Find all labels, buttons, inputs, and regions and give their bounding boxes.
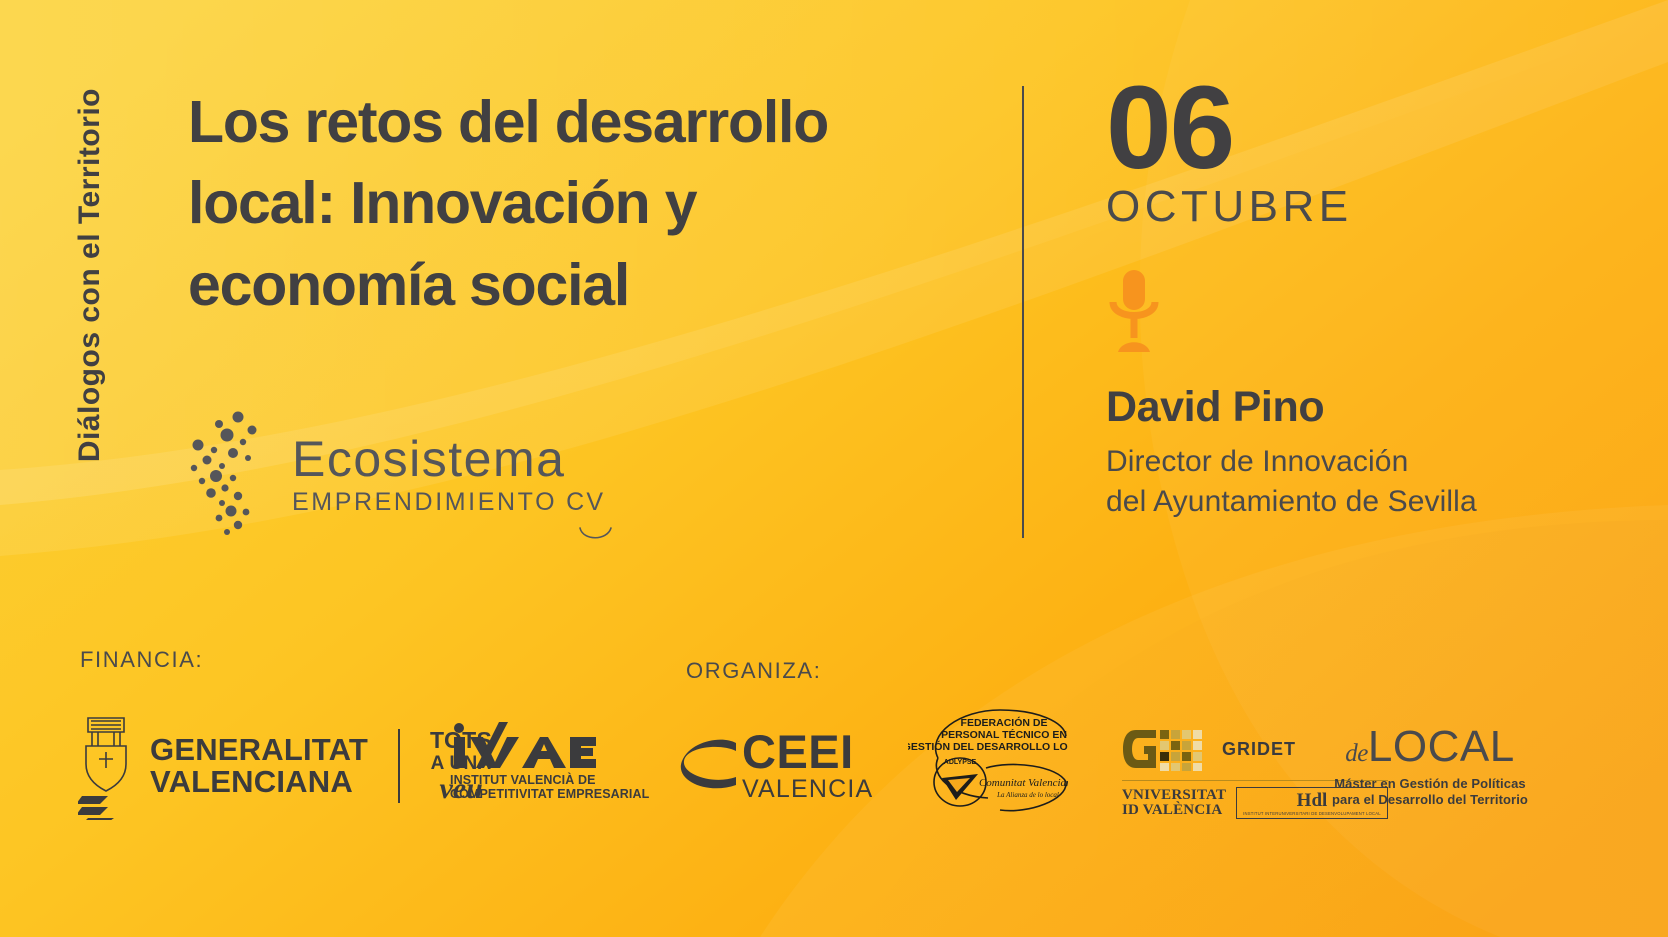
series-kicker-text: Diálogos con el Territorio bbox=[73, 88, 107, 462]
generalitat-valenciana-logo: GENERALITAT VALENCIANA TOTS A UNA veu bbox=[78, 712, 492, 820]
title-line-1: Los retos del desarrollo bbox=[188, 82, 988, 163]
federacion-adlypse-logo: FEDERACIÓN DE PERSONAL TÉCNICO EN GESTIÓ… bbox=[908, 702, 1068, 820]
ivace-logo: INSTITUT VALENCIÀ DE COMPETITIVITAT EMPR… bbox=[450, 722, 649, 801]
federacion-line-3: GESTIÓN DEL DESARROLLO LOCAL bbox=[908, 740, 1068, 753]
ecosistema-wordmark: Ecosistema bbox=[292, 434, 605, 484]
financia-label: FINANCIA: bbox=[80, 647, 203, 673]
generalitat-shield-icon bbox=[78, 712, 136, 820]
ivace-sub-line-2: COMPETITIVITAT EMPRESARIAL bbox=[450, 787, 649, 801]
ivace-sub-line-1: INSTITUT VALENCIÀ DE bbox=[450, 773, 649, 787]
delocal-wordmark: LOCAL bbox=[1368, 722, 1515, 772]
ceei-subtitle: VALENCIA bbox=[742, 777, 873, 802]
uv-line-2: ID VALÈNCIA bbox=[1122, 803, 1226, 818]
title-line-3: economía social bbox=[188, 245, 988, 326]
delocal-sub-line-2: para el Desarrollo del Territorio bbox=[1332, 792, 1528, 808]
hdl-subtitle: INSTITUT INTERUNIVERSITARI DE DESENVOLUP… bbox=[1243, 812, 1381, 816]
federacion-sub-1: Comunitat Valenciana bbox=[979, 777, 1068, 789]
vertical-divider bbox=[1022, 86, 1024, 538]
generalitat-line-2: VALENCIANA bbox=[150, 766, 368, 798]
ecosistema-region: CV bbox=[566, 490, 605, 515]
ivace-wordmark-icon bbox=[450, 722, 596, 768]
event-day: 06 bbox=[1106, 78, 1626, 179]
ceei-wordmark: CEEI bbox=[742, 728, 873, 775]
gridet-g-icon bbox=[1122, 726, 1210, 772]
page-title: Los retos del desarrollo local: Innovaci… bbox=[188, 82, 988, 326]
title-line-2: local: Innovación y bbox=[188, 163, 988, 244]
delocal-master-logo: de LOCAL Máster en Gestión de Políticas … bbox=[1332, 722, 1528, 809]
event-details-panel: 06 OCTUBRE David Pino Director de Innova… bbox=[1106, 78, 1626, 522]
delocal-sub-line-1: Máster en Gestión de Políticas bbox=[1332, 776, 1528, 792]
federacion-line-1: FEDERACIÓN DE bbox=[961, 716, 1048, 729]
hdl-wordmark: Hdl bbox=[1297, 791, 1328, 810]
delocal-prefix: de bbox=[1345, 740, 1368, 768]
adlypse-badge: ADLYPSE bbox=[944, 759, 977, 766]
ecosistema-subtitle: EMPRENDIMIENTO bbox=[292, 490, 557, 515]
speaker-role-line-1: Director de Innovación bbox=[1106, 442, 1626, 482]
generalitat-line-1: GENERALITAT bbox=[150, 734, 368, 766]
ecosistema-logo: Ecosistema EMPRENDIMIENTO CV bbox=[186, 408, 605, 540]
dot-cluster-v-mark bbox=[186, 408, 278, 540]
gridet-wordmark: GRIDET bbox=[1222, 739, 1296, 760]
ceei-valencia-logo: CEEI VALENCIA bbox=[680, 728, 873, 802]
speaker-role-line-2: del Ayuntamiento de Sevilla bbox=[1106, 482, 1626, 522]
ceei-ring-icon bbox=[680, 737, 742, 793]
federacion-seal-icon: FEDERACIÓN DE PERSONAL TÉCNICO EN GESTIÓ… bbox=[908, 702, 1068, 820]
federacion-sub-2: La Alianza de lo local bbox=[996, 791, 1059, 799]
smile-swoosh-icon bbox=[579, 526, 613, 546]
generalitat-divider bbox=[398, 729, 400, 803]
speaker-name: David Pino bbox=[1106, 383, 1626, 432]
federacion-line-2: PERSONAL TÉCNICO EN bbox=[941, 728, 1067, 741]
series-kicker: Diálogos con el Territorio bbox=[68, 88, 112, 558]
speaker-role: Director de Innovación del Ayuntamiento … bbox=[1106, 442, 1626, 522]
uv-line-1: VNIVERSITAT bbox=[1122, 788, 1226, 803]
organiza-label: ORGANIZA: bbox=[686, 658, 821, 684]
microphone-icon bbox=[1106, 268, 1162, 354]
event-month: OCTUBRE bbox=[1106, 183, 1626, 231]
